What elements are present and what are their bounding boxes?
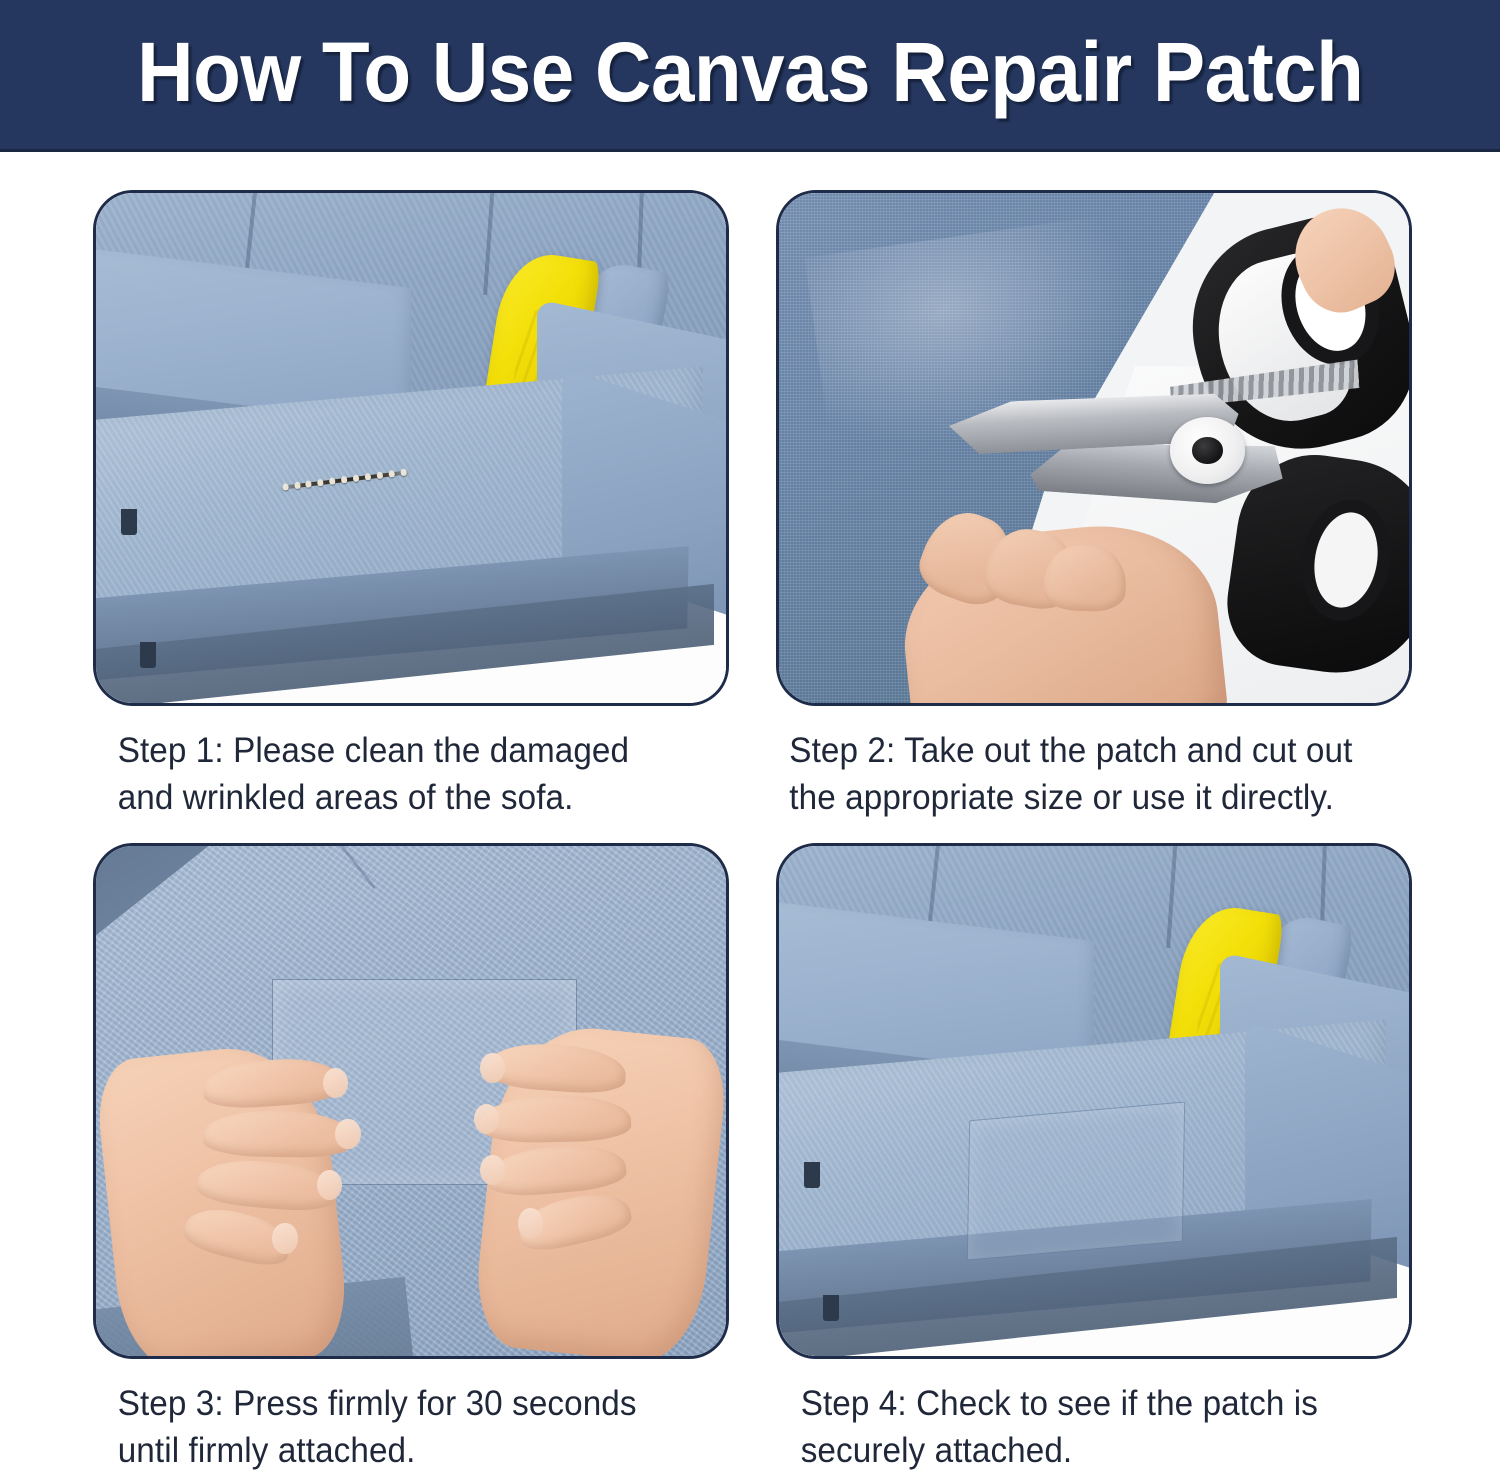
frayed-thread	[281, 484, 288, 492]
step-2-caption: Step 2: Take out the patch and cut out t…	[776, 728, 1380, 821]
frayed-thread	[293, 482, 300, 490]
step-card-2: Step 2: Take out the patch and cut out t…	[776, 190, 1412, 821]
sofa-leg	[804, 1162, 820, 1188]
frayed-thread	[388, 470, 395, 478]
frayed-thread	[376, 472, 383, 480]
pressing-patch-illustration	[96, 846, 726, 1356]
scissors-pivot-center	[1192, 437, 1222, 464]
frayed-thread	[364, 473, 371, 481]
fingernail	[518, 1208, 543, 1239]
fingernail	[474, 1104, 499, 1135]
step-2-photo	[776, 190, 1412, 706]
fingernail	[335, 1119, 360, 1150]
step-card-4: Step 4: Check to see if the patch is sec…	[776, 843, 1412, 1474]
header-banner: How To Use Canvas Repair Patch	[0, 0, 1500, 152]
frayed-thread	[305, 481, 312, 489]
frayed-thread	[317, 479, 324, 487]
fingernail	[272, 1223, 297, 1254]
scissors-cutting-illustration	[779, 193, 1409, 703]
page-title: How To Use Canvas Repair Patch	[137, 30, 1363, 120]
steps-grid: Step 1: Please clean the damaged and wri…	[0, 152, 1500, 1460]
frayed-thread	[329, 478, 336, 486]
fingernail	[317, 1170, 342, 1201]
step-4-caption: Step 4: Check to see if the patch is sec…	[776, 1381, 1380, 1474]
step-card-1: Step 1: Please clean the damaged and wri…	[93, 190, 729, 821]
step-card-3: Step 3: Press firmly for 30 seconds unti…	[93, 843, 729, 1474]
step-3-photo	[93, 843, 729, 1359]
step-1-photo	[93, 190, 729, 706]
frayed-thread	[352, 475, 359, 483]
step-4-photo	[776, 843, 1412, 1359]
step-3-caption: Step 3: Press firmly for 30 seconds unti…	[93, 1381, 697, 1474]
sofa-leg	[140, 642, 156, 668]
sofa-leg	[823, 1295, 839, 1321]
scissors-pivot-screw	[1170, 417, 1246, 483]
frayed-thread	[400, 469, 407, 477]
frayed-thread	[341, 476, 348, 484]
sofa-damaged-illustration	[96, 193, 726, 703]
applied-repair-patch	[967, 1102, 1186, 1261]
step-1-caption: Step 1: Please clean the damaged and wri…	[93, 728, 697, 821]
sofa-leg	[121, 509, 137, 535]
sofa-repaired-illustration	[779, 846, 1409, 1356]
